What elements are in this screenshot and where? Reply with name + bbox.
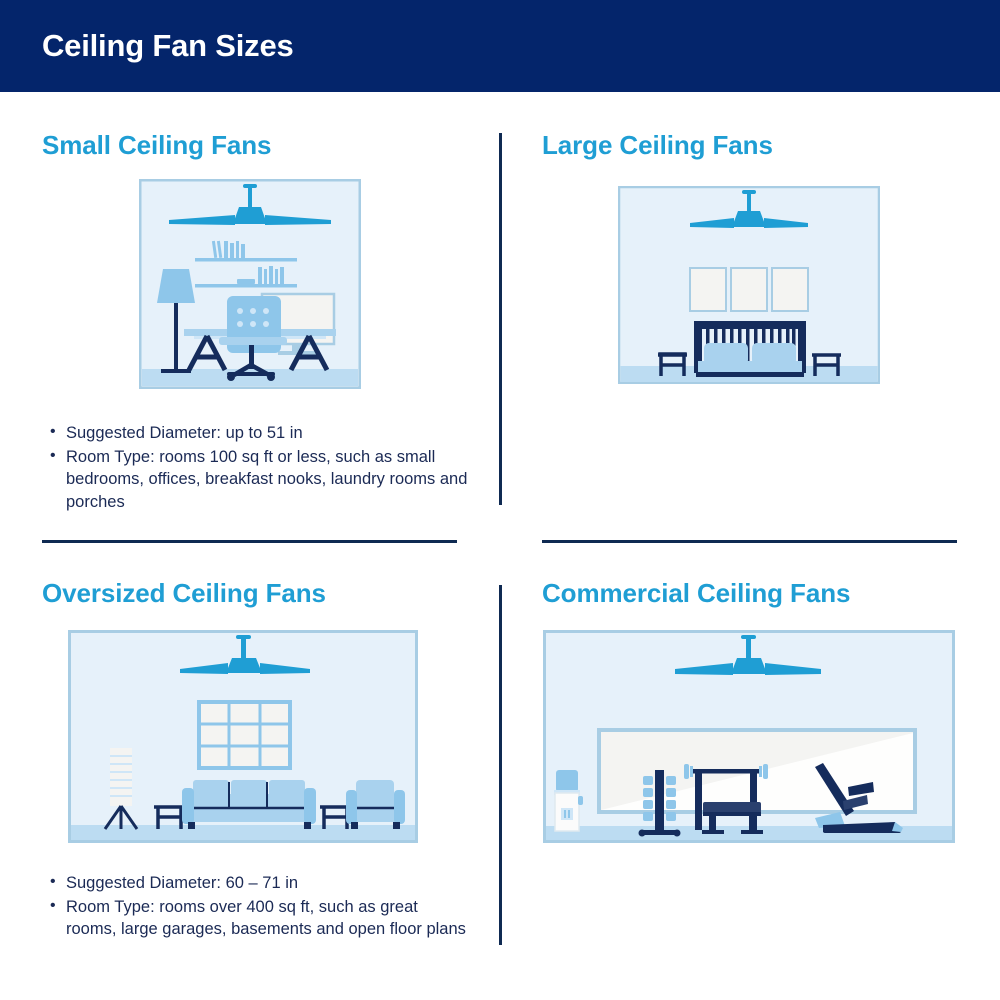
bullets-oversized: Suggested Diameter: 60 – 71 in Room Type…: [48, 872, 468, 942]
section-title-oversized: Oversized Ceiling Fans: [42, 578, 326, 609]
gym-scene: [543, 630, 955, 843]
bedroom-scene: [618, 186, 880, 384]
section-large: Large Ceiling Fans: [500, 92, 1000, 540]
section-title-commercial: Commercial Ceiling Fans: [542, 578, 850, 609]
section-commercial: Commercial Ceiling Fans: [500, 540, 1000, 1000]
list-item: Suggested Diameter: 60 – 71 in: [48, 872, 468, 895]
sections-grid: Small Ceiling Fans: [0, 92, 1000, 1000]
window: [199, 702, 290, 768]
section-title-large: Large Ceiling Fans: [542, 130, 773, 161]
section-title-small: Small Ceiling Fans: [42, 130, 271, 161]
page-title: Ceiling Fan Sizes: [42, 28, 294, 64]
home-office-scene: [139, 179, 361, 389]
page-header: Ceiling Fan Sizes: [0, 0, 1000, 92]
list-item: Suggested Diameter: up to 51 in: [48, 422, 473, 445]
bullets-small: Suggested Diameter: up to 51 in Room Typ…: [48, 422, 473, 514]
section-small: Small Ceiling Fans: [0, 92, 500, 540]
list-item: Room Type: rooms 100 sq ft or less, such…: [48, 446, 473, 514]
list-item: Room Type: rooms over 400 sq ft, such as…: [48, 896, 468, 941]
sofa: [182, 780, 316, 829]
section-oversized: Oversized Ceiling Fans: [0, 540, 500, 1000]
wall-art: [690, 268, 808, 311]
living-room-scene: [68, 630, 418, 843]
